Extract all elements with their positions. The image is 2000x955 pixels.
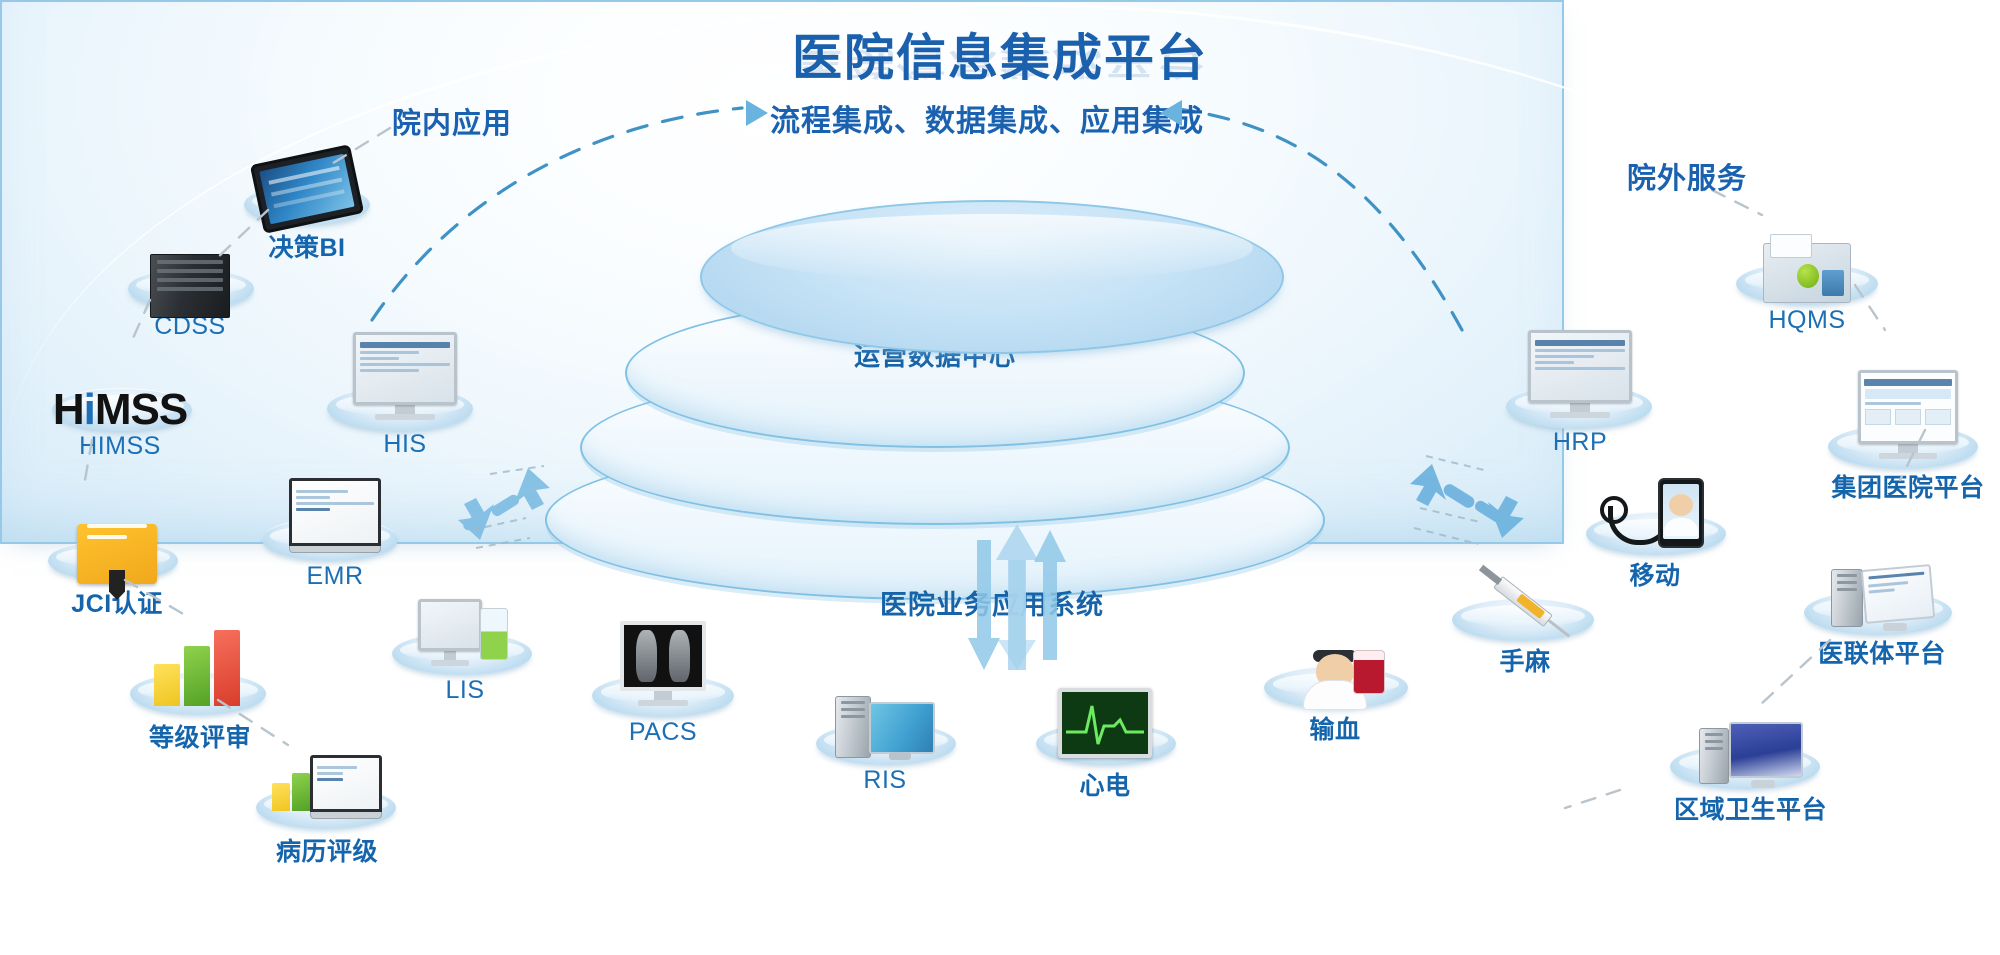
blood-bag-icon	[1289, 648, 1381, 710]
node-himss[interactable]: HiMSS HIMSS	[20, 330, 220, 460]
node-hqms[interactable]: HQMS	[1712, 198, 1902, 333]
node-jci[interactable]: JCI认证	[22, 478, 212, 610]
syringe-icon	[1475, 572, 1575, 636]
integration-banner-text: 流程集成、数据集成、应用集成	[770, 96, 1204, 140]
workstation-icon	[1699, 722, 1803, 788]
right-bidirectional-arrows-icon	[1392, 442, 1557, 567]
node-label: 区域卫生平台	[1674, 790, 1827, 826]
node-label: 医联体平台	[1818, 634, 1946, 670]
desktop-monitor-icon	[353, 332, 457, 420]
node-label: EMR	[306, 562, 363, 591]
node-label: 输血	[1309, 710, 1360, 746]
portal-monitor-icon	[1858, 370, 1958, 459]
document-folder-icon	[1763, 243, 1851, 303]
heading-inner-applications: 院内应用	[392, 100, 512, 142]
desktop-monitor-icon	[1528, 330, 1632, 418]
page-title: 医院信息集成平台	[0, 18, 2000, 90]
node-hrp[interactable]: HRP	[1480, 310, 1680, 450]
chart-laptop-icon	[272, 749, 382, 819]
lab-beaker-icon	[418, 600, 512, 666]
banner-arrow-left-icon	[1160, 100, 1182, 126]
node-label: 决策BI	[268, 228, 345, 264]
workstation-icon	[835, 694, 935, 760]
node-emr-grading[interactable]: 病历评级	[222, 712, 432, 857]
node-label: 移动	[1629, 556, 1680, 592]
node-blood-transfusion[interactable]: 输血	[1240, 600, 1430, 742]
node-label: 集团医院平台	[1831, 468, 1984, 504]
himss-logo-icon: HiMSS	[53, 388, 187, 432]
banner-arrow-right-icon	[746, 100, 768, 126]
node-pacs[interactable]: PACS	[568, 600, 758, 740]
mobile-stethoscope-icon	[1602, 478, 1708, 548]
node-medical-alliance[interactable]: 医联体平台	[1782, 518, 1982, 663]
node-cdss[interactable]: CDSS	[100, 208, 280, 336]
node-lis[interactable]: LIS	[370, 560, 560, 700]
platform-top-disc	[700, 200, 1284, 354]
node-regional-health[interactable]: 区域卫生平台	[1648, 672, 1853, 822]
diagram-canvas: 流程集成、数据集成、应用集成 院内应用 院外服务 基础数据中心 临床数据中心 运…	[0, 0, 2000, 955]
node-mobile[interactable]: 移动	[1560, 440, 1750, 580]
node-label: HQMS	[1769, 306, 1846, 335]
vertical-bidirectional-arrows-icon	[962, 520, 1072, 680]
server-rack-icon	[150, 254, 230, 318]
node-group-hospital[interactable]: 集团医院平台	[1808, 348, 2000, 493]
node-label: HRP	[1553, 428, 1607, 457]
node-label: RIS	[863, 766, 906, 795]
certificate-icon	[77, 508, 157, 584]
ecg-monitor-icon	[1058, 688, 1152, 758]
tablet-icon	[256, 154, 358, 224]
bar-chart-icon	[154, 628, 246, 706]
node-label: PACS	[629, 718, 697, 747]
node-his[interactable]: HIS	[305, 312, 505, 452]
heading-external-services: 院外服务	[1627, 155, 1747, 197]
laptop-icon	[289, 478, 381, 553]
node-label: HIMSS	[79, 432, 161, 461]
left-bidirectional-arrows-icon	[432, 452, 592, 572]
node-label: 手麻	[1499, 642, 1550, 678]
workstation-icon	[1831, 565, 1933, 631]
node-label: LIS	[445, 676, 484, 705]
node-label: 病历评级	[276, 832, 378, 868]
xray-monitor-icon	[620, 621, 706, 706]
node-label: 心电	[1079, 766, 1130, 802]
node-ris[interactable]: RIS	[790, 650, 980, 790]
